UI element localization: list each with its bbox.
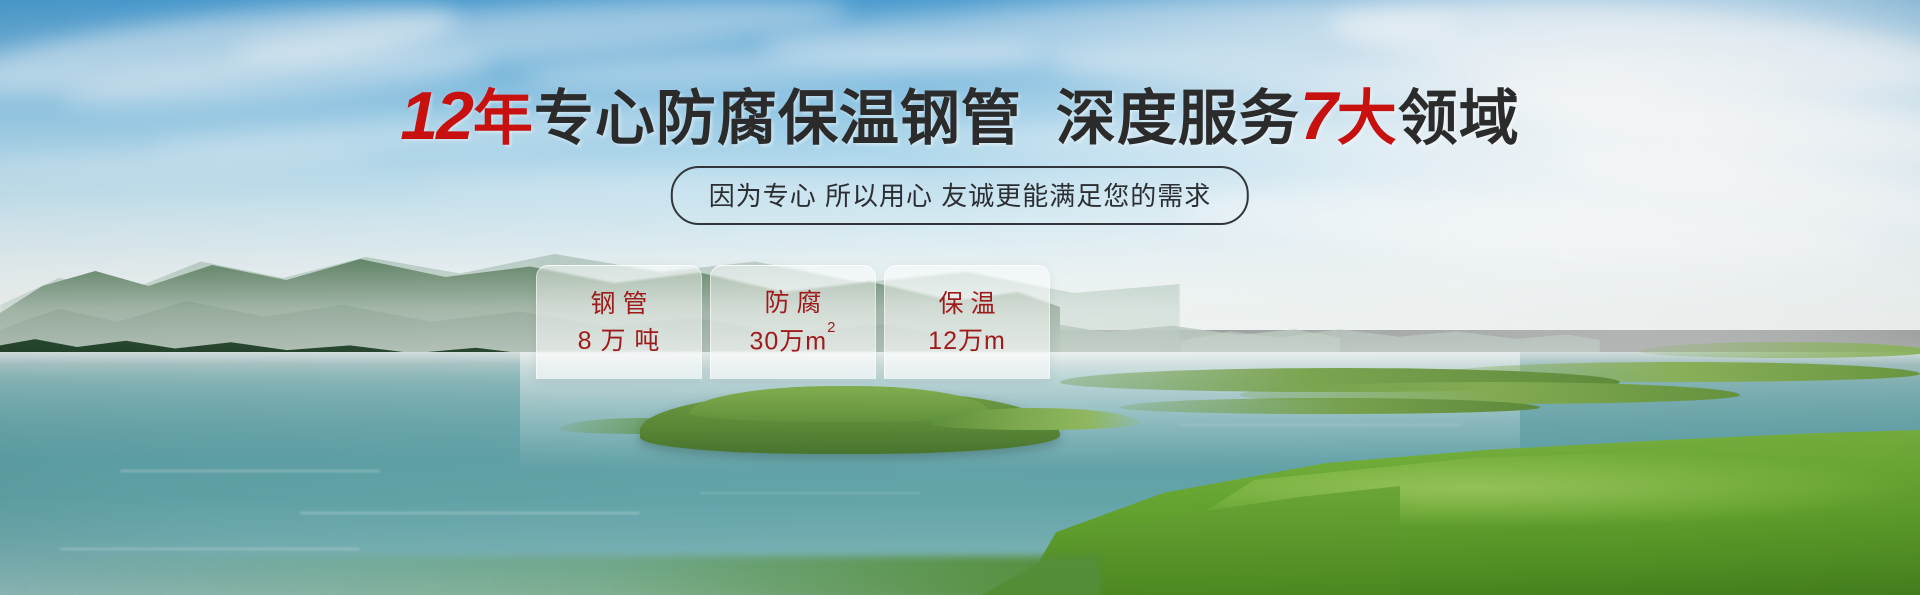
headline-part-one: 专心防腐保温钢管 [534,85,1022,152]
stat-card-insulation[interactable]: 保温 12万m [884,265,1050,379]
stat-card-value: 8 万 吨 [578,329,661,354]
headline-fields-number: 7 [1300,78,1336,154]
hero-banner: 12年专心防腐保温钢管深度服务7大领域 因为专心 所以用心 友诚更能满足您的需求… [0,0,1920,595]
subtitle-text: 因为专心 所以用心 友诚更能满足您的需求 [709,181,1211,211]
stat-card-value: 12万m [928,329,1006,354]
stat-card-anticorrosion[interactable]: 防腐 30万m2 [710,265,876,379]
headline-years-unit: 年 [473,85,534,152]
stat-cards: 钢管 8 万 吨 防腐 30万m2 保温 12万m [536,265,1050,379]
banner-content: 12年专心防腐保温钢管深度服务7大领域 因为专心 所以用心 友诚更能满足您的需求… [0,0,1920,595]
stat-card-steel-pipe[interactable]: 钢管 8 万 吨 [536,265,702,379]
headline-part-three: 领域 [1398,85,1520,152]
stat-card-value-base: 30万m [750,327,828,355]
stat-card-value-base: 8 万 吨 [578,327,661,355]
stat-card-title: 防腐 [757,291,828,316]
headline-part-two: 深度服务 [1056,85,1300,152]
subtitle-pill: 因为专心 所以用心 友诚更能满足您的需求 [671,166,1249,225]
headline-years-number: 12 [400,78,472,154]
stat-card-title: 保温 [931,292,1002,317]
stat-card-value: 30万m2 [750,328,837,354]
stat-card-value-superscript: 2 [827,319,836,336]
stat-card-title: 钢管 [583,292,654,317]
headline-fields-unit: 大 [1337,85,1398,152]
stat-card-value-base: 12万m [928,327,1006,355]
headline: 12年专心防腐保温钢管深度服务7大领域 [0,84,1920,151]
